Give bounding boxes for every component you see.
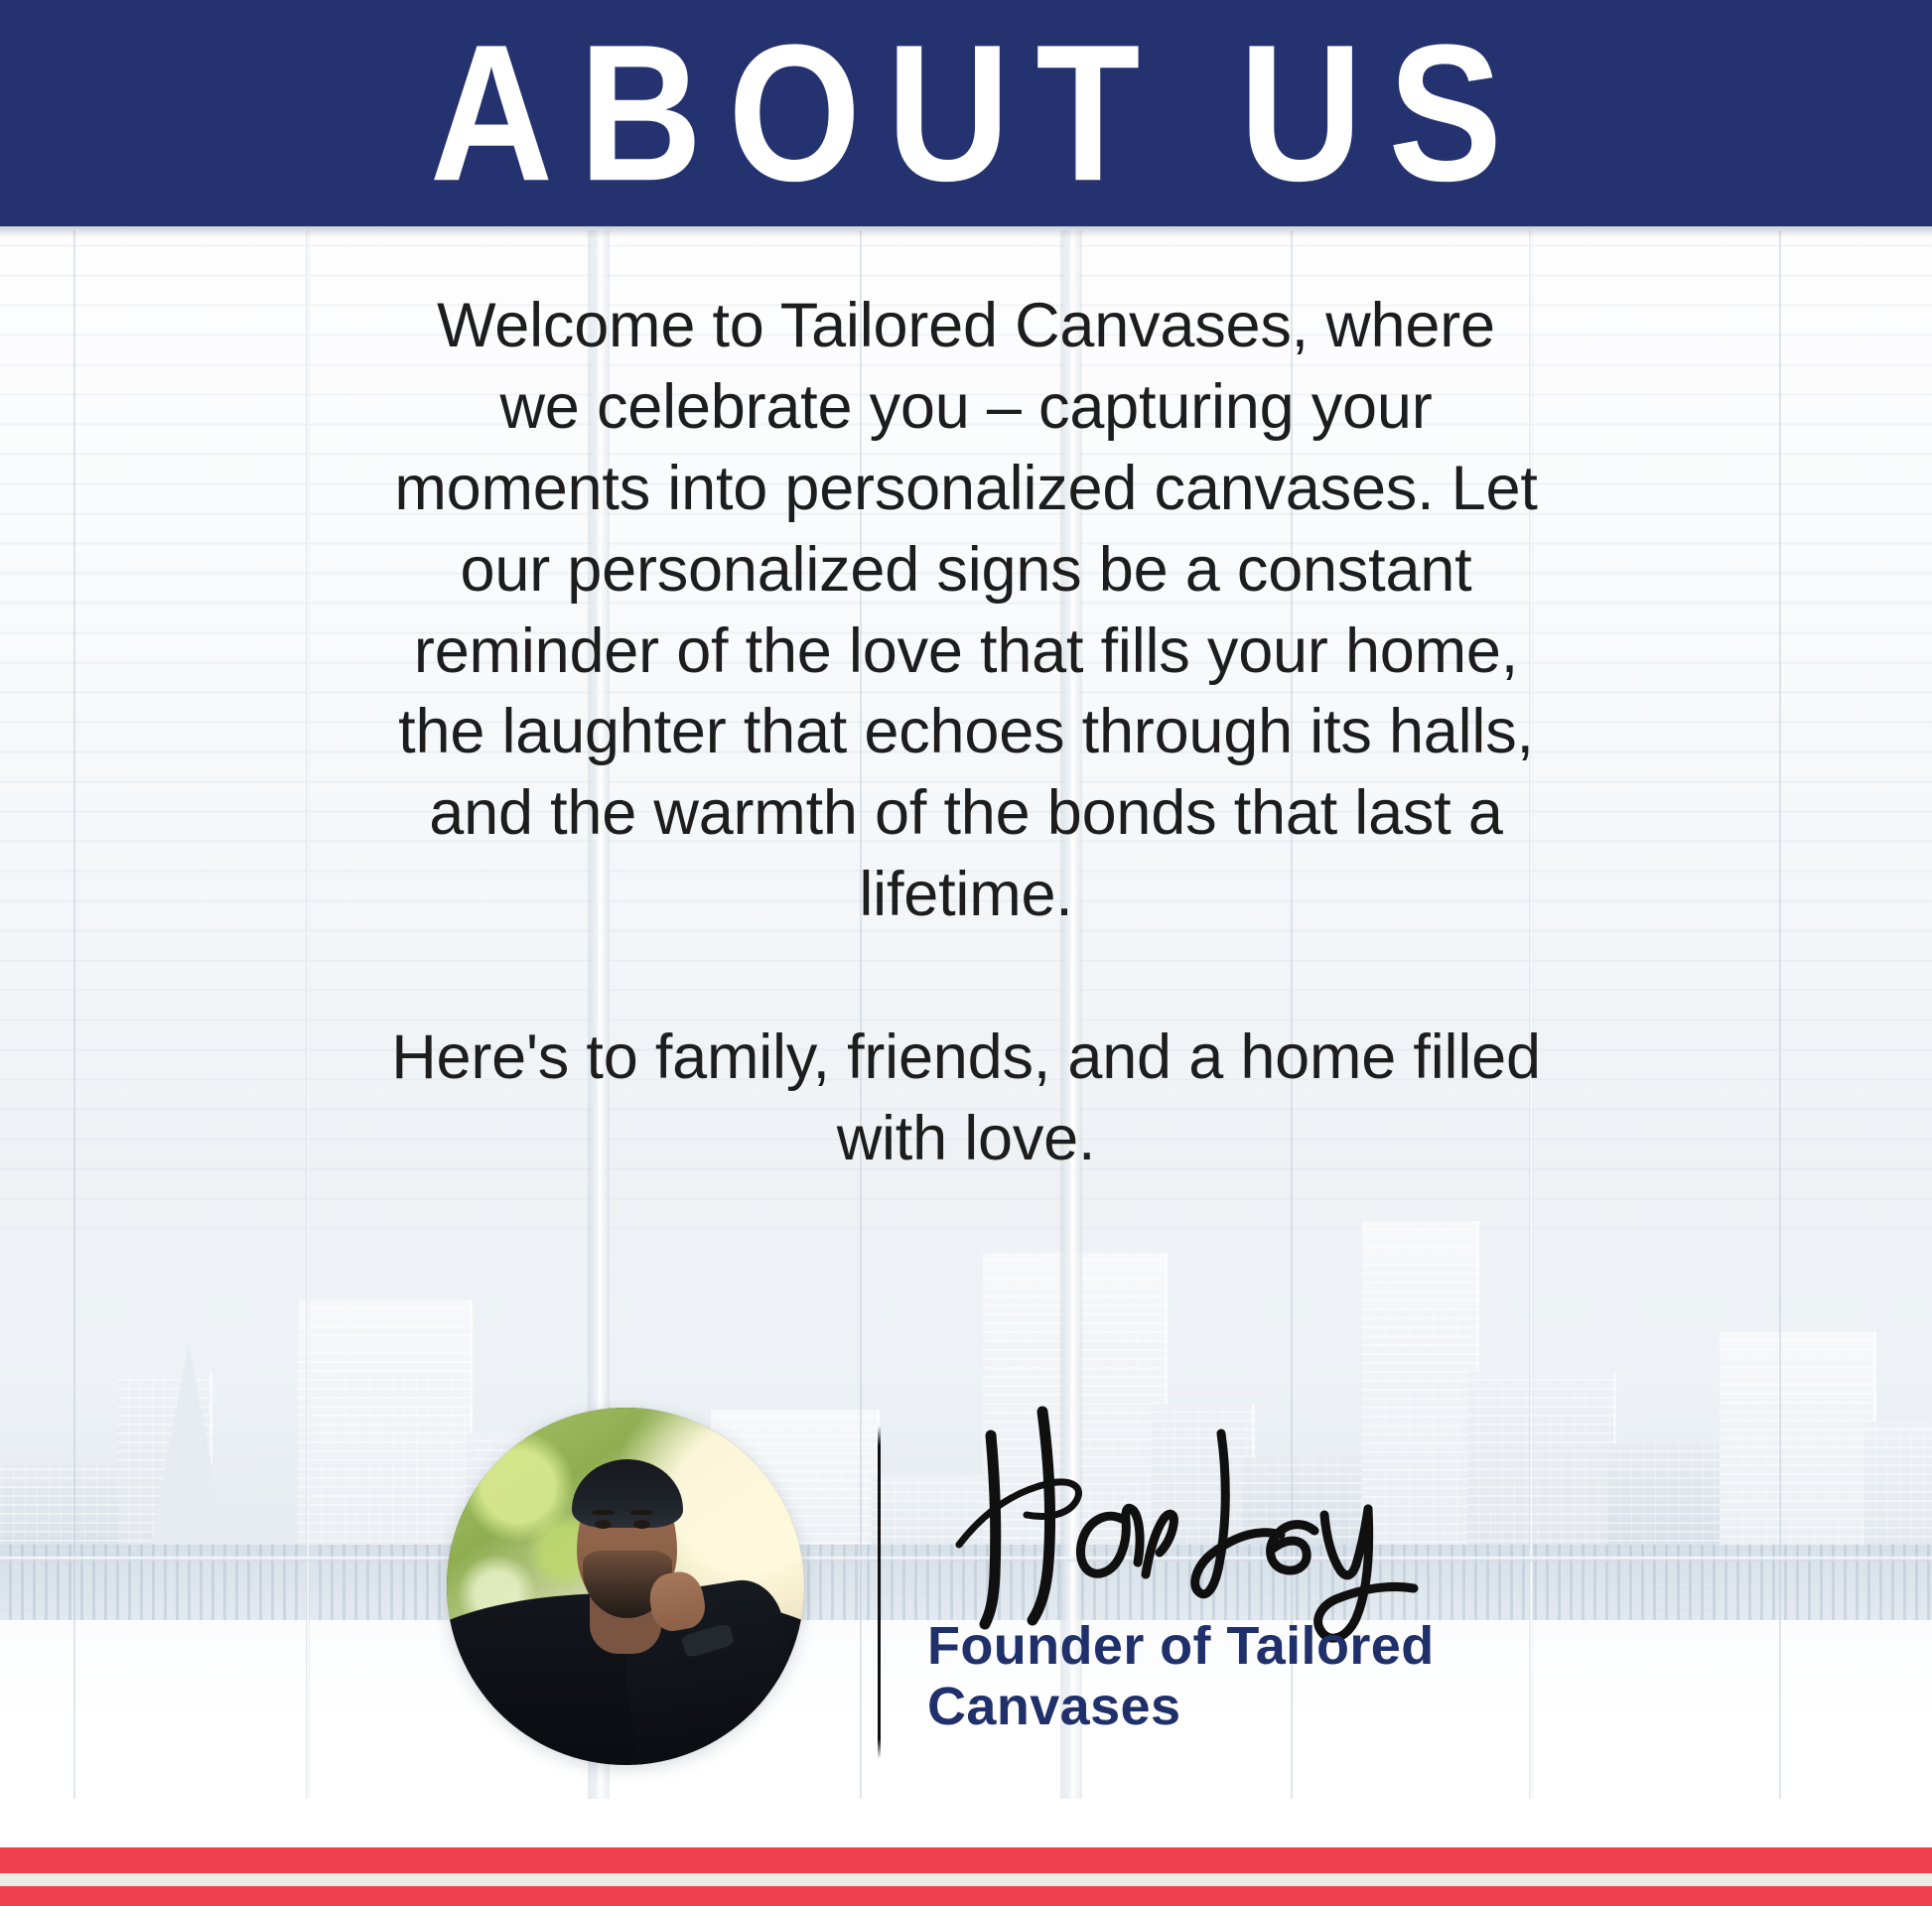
- footer-stripe-cream: [0, 1873, 1932, 1886]
- founder-role-line-1: Founder of Tailored: [927, 1616, 1523, 1677]
- founder-role: Founder of Tailored Canvases: [927, 1616, 1523, 1737]
- about-us-banner: ABOUT US: [0, 0, 1932, 226]
- avatar-eye: [595, 1520, 612, 1528]
- page-title: ABOUT US: [404, 16, 1528, 210]
- founder-signature-block: Founder of Tailored Canvases: [429, 1390, 1521, 1846]
- signature-harley: [923, 1394, 1479, 1642]
- avatar-eye: [633, 1520, 650, 1528]
- window-mullion: [73, 230, 75, 1799]
- avatar: [447, 1408, 804, 1765]
- paragraph-closing: Here's to family, friends, and a home fi…: [390, 1018, 1542, 1180]
- paragraph-intro: Welcome to Tailored Canvases, where we c…: [390, 286, 1542, 936]
- footer-stripe-red-bottom: [0, 1886, 1932, 1906]
- founder-role-line-2: Canvases: [927, 1677, 1523, 1737]
- about-us-poster: ABOUT US Welcome to Tailored Canvases, w…: [0, 0, 1932, 1906]
- about-us-body-copy: Welcome to Tailored Canvases, where we c…: [390, 286, 1542, 1180]
- footer-stripe-red-top: [0, 1847, 1932, 1873]
- window-mullion: [306, 230, 310, 1799]
- paragraph-spacer: [390, 936, 1542, 1018]
- window-mullion: [1779, 230, 1781, 1799]
- vertical-divider: [878, 1426, 881, 1759]
